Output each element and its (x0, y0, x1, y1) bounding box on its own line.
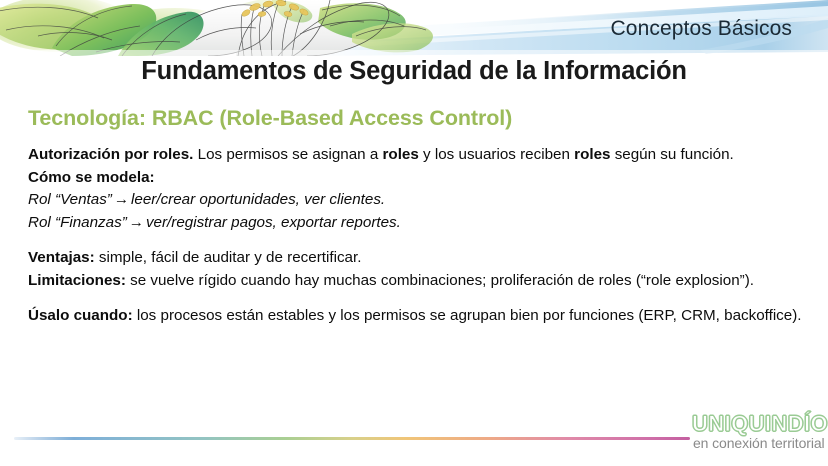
role-ventas-name: Rol “Ventas” (28, 191, 112, 208)
slide-body: Autorización por roles. Los permisos se … (28, 144, 803, 328)
header-section-label: Conceptos Básicos (611, 17, 792, 41)
limitaciones-label: Limitaciones: (28, 272, 126, 289)
autorizacion-lead: Autorización por roles. (28, 146, 193, 163)
section-subtitle: Tecnología: RBAC (Role-Based Access Cont… (28, 106, 512, 131)
usalo-cuando-label: Úsalo cuando: (28, 307, 133, 324)
paragraph-usalo-cuando: Úsalo cuando: los procesos están estable… (28, 305, 803, 328)
logo-tagline: en conexión territorial (693, 435, 825, 451)
role-ventas-permissions: leer/crear oportunidades, ver clientes. (131, 191, 385, 208)
autorizacion-bold-roles-2: roles (574, 146, 610, 163)
footer-gradient-rule (14, 437, 690, 440)
arrow-right-icon: → (127, 214, 146, 231)
autorizacion-text-1: Los permisos se asignan a (193, 146, 382, 163)
role-finanzas-name: Rol “Finanzas” (28, 214, 127, 231)
usalo-cuando-text: los procesos están estables y los permis… (133, 307, 802, 324)
como-se-modela-label: Cómo se modela: (28, 169, 155, 186)
paragraph-autorizacion: Autorización por roles. Los permisos se … (28, 144, 803, 167)
paragraph-como-se-modela-heading: Cómo se modela: (28, 167, 803, 190)
slide-header: Conceptos Básicos (0, 0, 828, 56)
page-title: Fundamentos de Seguridad de la Informaci… (0, 57, 828, 86)
paragraph-ventajas: Ventajas: simple, fácil de auditar y de … (28, 247, 803, 270)
slide: Conceptos Básicos Fundamentos de Segurid… (0, 0, 828, 466)
paragraph-limitaciones: Limitaciones: se vuelve rígido cuando ha… (28, 270, 803, 293)
role-example-finanzas: Rol “Finanzas”→ver/registrar pagos, expo… (28, 212, 803, 235)
limitaciones-text: se vuelve rígido cuando hay muchas combi… (126, 272, 754, 289)
footer-rule-fade (14, 437, 74, 440)
ventajas-label: Ventajas: (28, 249, 95, 266)
ventajas-text: simple, fácil de auditar y de recertific… (95, 249, 362, 266)
role-finanzas-permissions: ver/registrar pagos, exportar reportes. (146, 214, 401, 231)
arrow-right-icon: → (112, 191, 131, 208)
autorizacion-text-2: y los usuarios reciben (419, 146, 574, 163)
institution-logo: UNIQUINDÍO en conexión territorial (692, 412, 824, 454)
role-example-ventas: Rol “Ventas”→leer/crear oportunidades, v… (28, 189, 803, 212)
logo-wordmark: UNIQUINDÍO (692, 412, 828, 436)
autorizacion-text-3: según su función. (610, 146, 733, 163)
autorizacion-bold-roles-1: roles (383, 146, 419, 163)
